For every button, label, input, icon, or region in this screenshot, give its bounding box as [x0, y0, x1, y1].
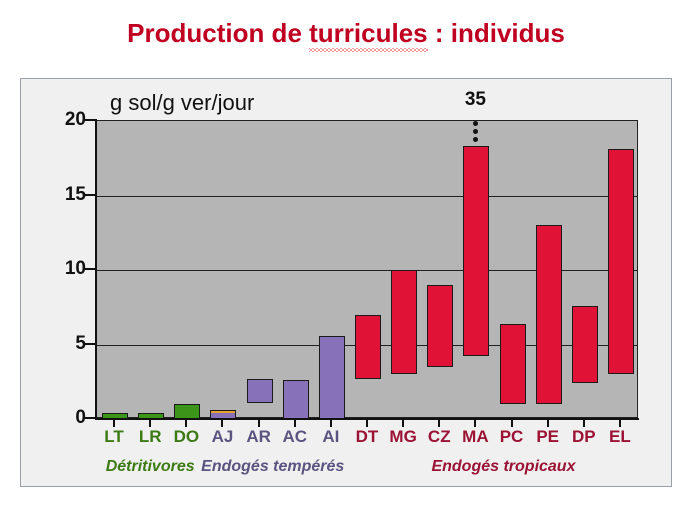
y-tick-label-5: 5 — [40, 333, 86, 355]
x-tick-label-dt: DT — [347, 427, 387, 447]
x-tick-mark-ai — [330, 420, 332, 427]
y-tick-label-20: 20 — [40, 109, 86, 131]
x-tick-label-ma: MA — [455, 427, 495, 447]
x-tick-mark-aj — [221, 420, 223, 427]
x-tick-mark-dt — [366, 420, 368, 427]
x-tick-mark-lt — [113, 420, 115, 427]
overflow-value-label: 35 — [450, 89, 500, 111]
y-tick-mark-0 — [85, 417, 95, 419]
overflow-dots-icon — [450, 118, 500, 142]
page-title: Production de turricules : individus — [0, 18, 692, 49]
x-tick-mark-pc — [511, 420, 513, 427]
bar-ma — [463, 146, 489, 356]
gridline-15 — [97, 196, 637, 197]
x-tick-mark-lr — [149, 420, 151, 427]
bar-ac — [283, 380, 309, 419]
x-tick-mark-pe — [547, 420, 549, 427]
y-tick-mark-10 — [85, 268, 95, 270]
y-tick-label-0: 0 — [40, 407, 86, 429]
x-tick-mark-do — [185, 420, 187, 427]
bar-ai — [319, 336, 345, 419]
y-axis-unit-label: g sol/g ver/jour — [110, 90, 254, 116]
overflow-dot — [473, 121, 478, 126]
x-tick-label-dp: DP — [564, 427, 604, 447]
bar-dp — [572, 306, 598, 383]
x-tick-mark-mg — [402, 420, 404, 427]
bar-cap-aj — [211, 411, 235, 413]
bar-dt — [355, 315, 381, 379]
x-tick-mark-cz — [438, 420, 440, 427]
y-tick-label-15: 15 — [40, 184, 86, 206]
x-tick-label-lt: LT — [94, 427, 134, 447]
bar-ar — [247, 379, 273, 403]
x-tick-mark-dp — [583, 420, 585, 427]
bar-do — [174, 404, 200, 419]
x-tick-label-ar: AR — [239, 427, 279, 447]
x-tick-label-ac: AC — [275, 427, 315, 447]
y-axis-line — [95, 119, 97, 420]
title-part-misspelled: turricules — [309, 18, 428, 49]
x-tick-label-aj: AJ — [202, 427, 242, 447]
x-tick-label-pe: PE — [528, 427, 568, 447]
x-tick-label-ai: AI — [311, 427, 351, 447]
y-tick-label-10: 10 — [40, 258, 86, 280]
y-tick-mark-20 — [85, 119, 95, 121]
y-tick-mark-15 — [85, 194, 95, 196]
overflow-dot — [473, 129, 478, 134]
title-part-before: Production de — [127, 18, 309, 48]
x-tick-mark-ac — [294, 420, 296, 427]
bar-mg — [391, 270, 417, 374]
x-tick-label-lr: LR — [130, 427, 170, 447]
x-tick-label-pc: PC — [492, 427, 532, 447]
plot-area — [96, 120, 638, 418]
overflow-dot — [473, 137, 478, 142]
bar-el — [608, 149, 634, 374]
x-tick-label-cz: CZ — [419, 427, 459, 447]
x-tick-label-el: EL — [600, 427, 640, 447]
bar-cz — [427, 285, 453, 367]
group-caption-endog-s-temp-r-s: Endogés tempérés — [201, 458, 344, 476]
x-tick-mark-ma — [474, 420, 476, 427]
y-axis-ticks: 05101520 — [20, 0, 86, 505]
y-tick-mark-5 — [85, 343, 95, 345]
group-caption-endog-s-tropicaux: Endogés tropicaux — [431, 458, 575, 476]
x-tick-mark-ar — [258, 420, 260, 427]
x-tick-mark-el — [619, 420, 621, 427]
bar-pc — [500, 324, 526, 404]
bar-pe — [536, 225, 562, 404]
title-part-after: : individus — [428, 18, 565, 48]
x-tick-label-do: DO — [166, 427, 206, 447]
group-caption-d-tritivores: Détritivores — [106, 458, 195, 476]
x-tick-label-mg: MG — [383, 427, 423, 447]
